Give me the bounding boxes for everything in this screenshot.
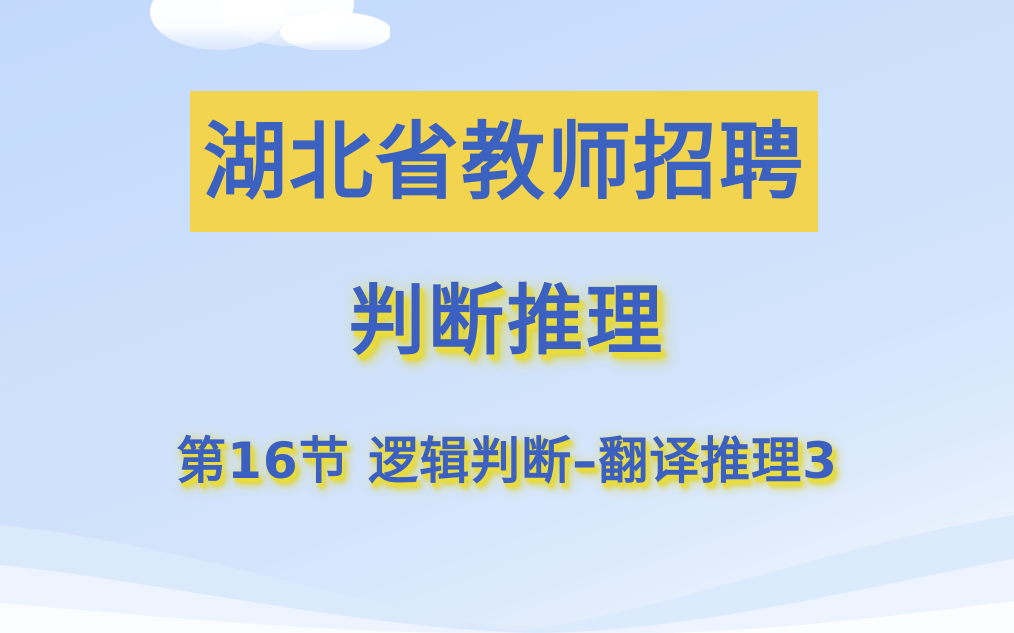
cloud-decoration: [140, 0, 390, 50]
lesson-heading: 第16节 逻辑判断–翻译推理3: [0, 436, 1014, 486]
banner-title-text: 湖北省教师招聘: [203, 120, 805, 204]
subject-heading: 判断推理: [0, 283, 1014, 359]
slide-canvas: 湖北省教师招聘 判断推理 第16节 逻辑判断–翻译推理3: [0, 0, 1014, 633]
title-banner: 湖北省教师招聘: [190, 91, 818, 232]
